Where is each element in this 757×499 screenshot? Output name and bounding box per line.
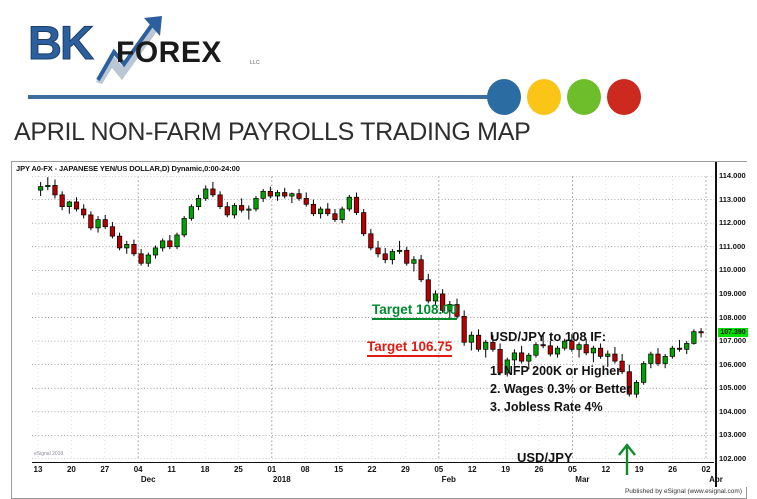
month-tick-label: Dec [141,475,156,484]
price-tick-label: 108.000 [719,313,746,322]
price-tick-label: 104.000 [719,407,746,416]
date-tick-label: 27 [100,465,109,474]
signal-up-label: USD/JPY [517,450,573,465]
accent-dot-blue [487,79,521,115]
bull-case-condition-1: 1. NFP 200K or Higher [490,364,621,378]
date-tick-label: 29 [401,465,410,474]
month-tick-label: 2018 [273,475,291,484]
logo-text-bk: BK [28,18,92,68]
price-tick-label: 114.000 [719,171,746,180]
footer-attribution: Published by eSignal (www.esignal.com) [625,488,742,495]
slide-header: BK FOREX LLC APRIL NON-FARM PAYROLLS TRA… [0,0,757,160]
price-tick-label: 106.000 [719,360,746,369]
price-tick-label: 111.000 [719,242,745,251]
date-tick-label: 04 [134,465,143,474]
price-tick-label: 107.000 [719,336,746,345]
price-axis: 114.000113.000112.000111.000110.000109.0… [715,162,747,488]
chart-footer: Published by eSignal (www.esignal.com) [11,487,747,499]
date-tick-label: 26 [668,465,677,474]
date-tick-label: 02 [702,465,711,474]
current-price-marker: 107.390 [718,328,748,337]
accent-dot-yellow [527,79,561,115]
date-tick-label: 05 [434,465,443,474]
logo-text-llc: LLC [250,60,260,66]
date-tick-label: 15 [334,465,343,474]
date-tick-label: 08 [301,465,310,474]
price-tick-label: 109.000 [719,289,746,298]
date-tick-label: 25 [234,465,243,474]
date-tick-label: 11 [167,465,175,474]
price-tick-label: 113.000 [719,195,746,204]
chart-watermark: eSignal 2018 [34,451,63,457]
target-label-upside: Target 108.00 [372,302,457,320]
bull-case-condition-2: 2. Wages 0.3% or Better [490,382,631,396]
date-tick-label: 18 [201,465,210,474]
date-tick-label: 05 [568,465,577,474]
target-label-downside: Target 106.75 [367,339,452,357]
arrow-up-icon [616,443,638,476]
accent-dot-green [567,79,601,115]
header-divider-rule [28,95,498,99]
logo-text-forex: FOREX [116,37,222,69]
bull-case-heading: USD/JPY to 108 IF: [490,329,606,344]
month-tick-label: Apr [709,475,723,484]
date-tick-label: 22 [368,465,377,474]
page-title: APRIL NON-FARM PAYROLLS TRADING MAP [14,118,530,147]
accent-dot-red [607,79,641,115]
price-tick-label: 103.000 [719,430,746,439]
date-tick-label: 12 [468,465,477,474]
date-tick-label: 20 [67,465,76,474]
date-axis: 1320270411182501081522290512192605121926… [32,462,714,488]
month-tick-label: Feb [442,475,456,484]
price-tick-label: 105.000 [719,383,746,392]
price-tick-label: 110.000 [719,265,746,274]
date-tick-label: 13 [34,465,43,474]
slide-canvas: BK FOREX LLC APRIL NON-FARM PAYROLLS TRA… [0,0,757,499]
date-tick-label: 26 [535,465,544,474]
date-tick-label: 19 [501,465,510,474]
date-tick-label: 12 [601,465,610,474]
price-tick-label: 112.000 [719,218,746,227]
month-tick-label: Mar [575,475,589,484]
price-tick-label: 102.000 [719,454,746,463]
date-tick-label: 01 [267,465,276,474]
candlestick-chart[interactable]: JPY A0-FX - JAPANESE YEN/US DOLLAR,D) Dy… [11,161,747,488]
chart-instrument-title: JPY A0-FX - JAPANESE YEN/US DOLLAR,D) Dy… [16,164,240,173]
bk-forex-logo: BK FOREX LLC [28,14,258,76]
bull-case-condition-3: 3. Jobless Rate 4% [490,400,603,414]
